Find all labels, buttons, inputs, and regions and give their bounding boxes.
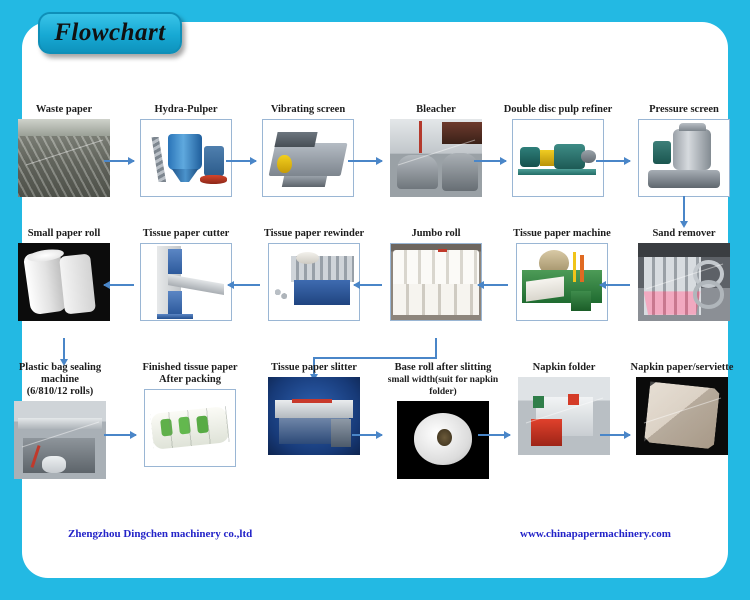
node-napkin-folder[interactable]: Napkin folder: [508, 362, 620, 455]
node-label: Finished tissue paper: [134, 362, 246, 374]
node-label: Hydra-Pulper: [130, 104, 242, 116]
node-label: Tissue paper cutter: [130, 228, 242, 240]
node-image-small-paper-roll: [18, 243, 110, 321]
arrow-refiner-to-pressure: [596, 160, 630, 162]
flowchart-page: Flowchart Waste paper Hydra-Pulper Vibra…: [0, 0, 750, 600]
process-row-2: Small paper roll Tissue paper cutter Tis…: [0, 228, 750, 360]
node-image-bleacher: [390, 119, 482, 197]
connector-jumbo-left: [313, 357, 437, 359]
node-plastic-bag-sealing-machine[interactable]: Plastic bag sealing machine (6/810/12 ro…: [4, 362, 116, 479]
arrow-bleacher-to-refiner: [474, 160, 506, 162]
arrow-pulper-to-vibrating: [226, 160, 256, 162]
node-label: Plastic bag sealing machine: [4, 362, 116, 386]
arrow-pressure-to-sand: [683, 196, 685, 222]
node-waste-paper[interactable]: Waste paper: [8, 104, 120, 197]
arrow-slitter-to-base-roll: [352, 434, 382, 436]
node-image-bag-sealing: [14, 401, 106, 479]
page-title: Flowchart: [54, 19, 165, 47]
title-badge: Flowchart: [38, 12, 182, 54]
company-name: Zhengzhou Dingchen machinery co.,ltd: [68, 528, 252, 540]
node-label: Pressure screen: [628, 104, 740, 116]
node-sublabel: After packing: [134, 374, 246, 386]
node-image-tissue-paper-cutter: [140, 243, 232, 321]
node-image-tissue-paper-machine: [516, 243, 608, 321]
node-hydra-pulper[interactable]: Hydra-Pulper: [130, 104, 242, 197]
node-sublabel: (6/810/12 rolls): [4, 386, 116, 398]
node-label: Tissue paper slitter: [258, 362, 370, 374]
node-label: Bleacher: [380, 104, 492, 116]
node-label: Double disc pulp refiner: [502, 104, 614, 116]
node-napkin-paper-serviette[interactable]: Napkin paper/serviette: [626, 362, 738, 455]
node-label: Base roll after slitting: [378, 362, 508, 374]
arrow-rewinder-to-cutter: [228, 284, 260, 286]
arrow-vibrating-to-bleacher: [348, 160, 382, 162]
node-image-tissue-paper-slitter: [268, 377, 360, 455]
arrow-napkin-folder-to-serviette: [600, 434, 630, 436]
footer: Zhengzhou Dingchen machinery co.,ltd www…: [0, 528, 750, 548]
node-label: Tissue paper rewinder: [258, 228, 370, 240]
node-label: Vibrating screen: [252, 104, 364, 116]
node-pressure-screen[interactable]: Pressure screen: [628, 104, 740, 197]
node-label: Sand remover: [628, 228, 740, 240]
node-label: Small paper roll: [8, 228, 120, 240]
node-sand-remover[interactable]: Sand remover: [628, 228, 740, 321]
node-image-napkin-folder: [518, 377, 610, 455]
process-row-3: Plastic bag sealing machine (6/810/12 ro…: [0, 362, 750, 502]
connector-jumbo-down: [435, 338, 437, 358]
node-label: Napkin folder: [508, 362, 620, 374]
node-image-finished-tissue-paper: [144, 389, 236, 467]
node-label: Waste paper: [8, 104, 120, 116]
node-image-hydra-pulper: [140, 119, 232, 197]
node-image-sand-remover: [638, 243, 730, 321]
node-image-vibrating-screen: [262, 119, 354, 197]
node-image-serviette: [636, 377, 728, 455]
node-sublabel: small width(suit for napkin folder): [378, 374, 508, 398]
node-image-tissue-paper-rewinder: [268, 243, 360, 321]
node-jumbo-roll[interactable]: Jumbo roll: [380, 228, 492, 321]
node-tissue-paper-rewinder[interactable]: Tissue paper rewinder: [258, 228, 370, 321]
node-label: Napkin paper/serviette: [626, 362, 738, 374]
node-vibrating-screen[interactable]: Vibrating screen: [252, 104, 364, 197]
node-finished-tissue-paper[interactable]: Finished tissue paper After packing: [134, 362, 246, 467]
node-image-jumbo-roll: [390, 243, 482, 321]
website-link[interactable]: www.chinapapermachinery.com: [520, 528, 671, 540]
node-label: Tissue paper machine: [506, 228, 618, 240]
arrow-bag-sealing-to-finished: [104, 434, 136, 436]
node-tissue-paper-slitter[interactable]: Tissue paper slitter: [258, 362, 370, 455]
node-image-waste-paper: [18, 119, 110, 197]
arrow-waste-to-pulper: [104, 160, 134, 162]
node-double-disc-pulp-refiner[interactable]: Double disc pulp refiner: [502, 104, 614, 197]
node-base-roll-after-slitting[interactable]: Base roll after slitting small width(sui…: [378, 362, 508, 479]
arrow-machine-to-jumbo: [478, 284, 508, 286]
node-image-pressure-screen: [638, 119, 730, 197]
process-row-1: Waste paper Hydra-Pulper Vibrating scree…: [0, 104, 750, 236]
node-tissue-paper-machine[interactable]: Tissue paper machine: [506, 228, 618, 321]
node-small-paper-roll[interactable]: Small paper roll: [8, 228, 120, 321]
arrow-cutter-to-small-roll: [104, 284, 134, 286]
arrow-base-roll-to-napkin-folder: [478, 434, 510, 436]
arrow-sand-to-machine: [600, 284, 630, 286]
node-image-refiner: [512, 119, 604, 197]
node-label: Jumbo roll: [380, 228, 492, 240]
node-bleacher[interactable]: Bleacher: [380, 104, 492, 197]
arrow-jumbo-to-rewinder: [354, 284, 382, 286]
node-image-base-roll: [397, 401, 489, 479]
arrow-small-roll-to-bag-sealing: [63, 338, 65, 360]
node-tissue-paper-cutter[interactable]: Tissue paper cutter: [130, 228, 242, 321]
